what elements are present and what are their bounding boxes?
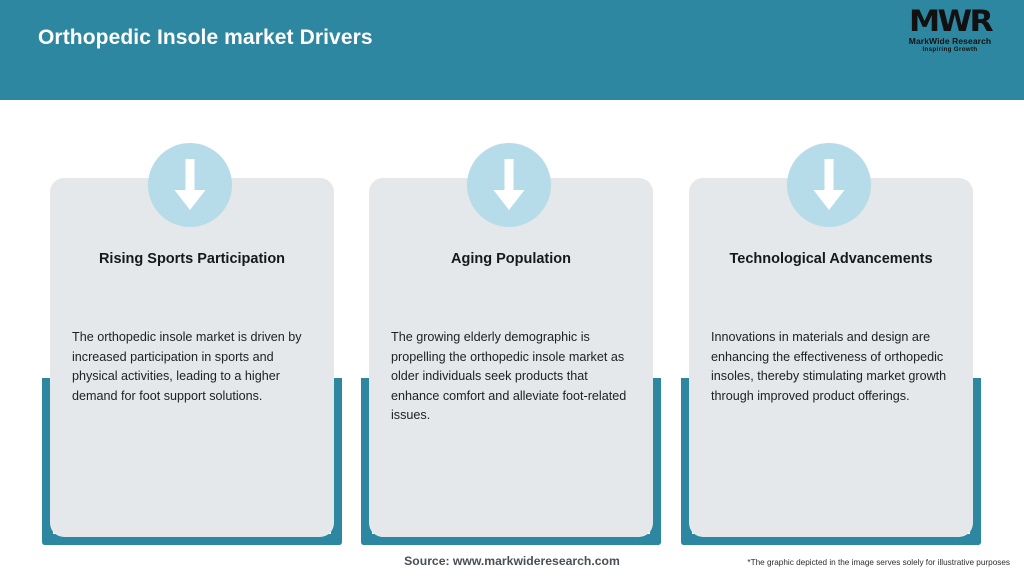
disclaimer-note: *The graphic depicted in the image serve… — [747, 558, 1010, 567]
driver-card-group-2: Aging Population The growing elderly dem… — [361, 100, 661, 550]
drivers-card-row: Rising Sports Participation The orthoped… — [0, 100, 1024, 550]
driver-card-body: The orthopedic insole market is driven b… — [72, 328, 316, 406]
driver-card-group-3: Technological Advancements Innovations i… — [681, 100, 981, 550]
driver-card-heading: Aging Population — [381, 250, 641, 268]
header-band — [0, 0, 1024, 100]
company-logo: MWR MarkWide Research Inspiring Growth — [890, 6, 1010, 58]
arrow-down-icon — [787, 143, 871, 227]
driver-card[interactable]: Rising Sports Participation The orthoped… — [50, 178, 334, 537]
arrow-down-icon — [148, 143, 232, 227]
driver-card-heading: Rising Sports Participation — [62, 250, 322, 268]
logo-monogram: MWR — [885, 6, 1015, 36]
logo-tagline: Inspiring Growth — [890, 46, 1010, 54]
driver-card-group-1: Rising Sports Participation The orthoped… — [42, 100, 342, 550]
driver-card[interactable]: Aging Population The growing elderly dem… — [369, 178, 653, 537]
arrow-down-icon — [467, 143, 551, 227]
driver-card[interactable]: Technological Advancements Innovations i… — [689, 178, 973, 537]
driver-card-body: The growing elderly demographic is prope… — [391, 328, 635, 426]
driver-card-heading: Technological Advancements — [701, 250, 961, 268]
driver-card-body: Innovations in materials and design are … — [711, 328, 955, 406]
page-title: Orthopedic Insole market Drivers — [38, 26, 373, 50]
